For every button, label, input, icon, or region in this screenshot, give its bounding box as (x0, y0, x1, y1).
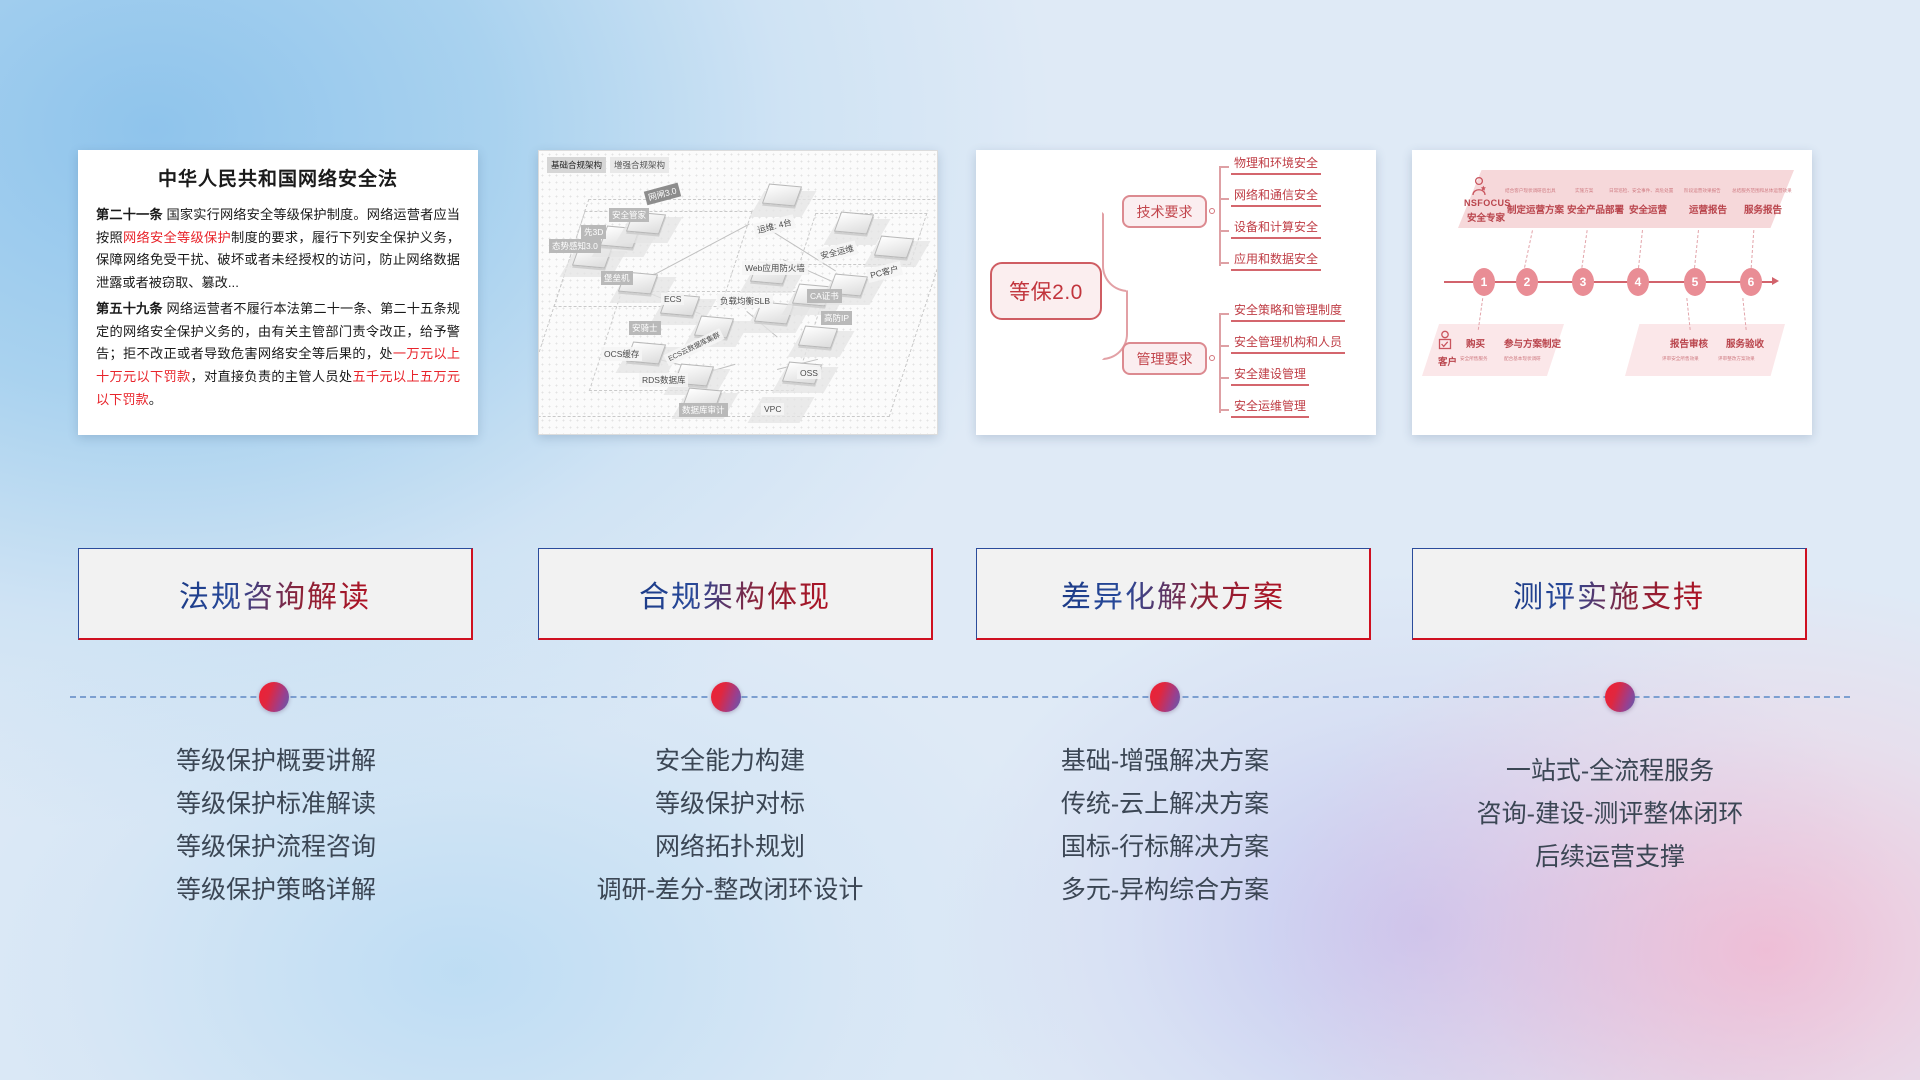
mindmap-tick-t1 (1219, 166, 1229, 168)
arch-label-taishi: 态势感知3.0 (549, 239, 601, 253)
arch-tab-basic[interactable]: 基础合规架构 (547, 157, 606, 173)
nsfocus-bstep-1-label: 购买 (1466, 336, 1485, 350)
mindmap-leaf-device: 设备和计算安全 (1231, 218, 1321, 239)
section-title-box-2[interactable]: 合规架构体现 (538, 548, 933, 640)
timeline-dot-2[interactable] (711, 682, 741, 712)
article-59-end: 。 (149, 392, 162, 407)
architecture-tabs[interactable]: 基础合规架构 增强合规架构 (547, 157, 669, 173)
mindmap-tick-t4 (1219, 262, 1229, 264)
mindmap-leaf-ops: 安全运维管理 (1231, 397, 1309, 418)
nsfocus-step-1-label: 制定运营方案 (1507, 202, 1564, 216)
section-title-box-4[interactable]: 测评实施支持 (1412, 548, 1807, 640)
arch-label-gaofangip: 高防IP (821, 311, 852, 325)
nsfocus-bstep-3-sub: 评审安全所售效果 (1662, 356, 1699, 362)
customer-person-icon (1436, 330, 1454, 352)
law-body: 中华人民共和国网络安全法 第二十一条 国家实行网络安全等级保护制度。网络运营者应… (78, 150, 478, 421)
arch-label-ecs: ECS (661, 293, 684, 305)
card-cloud-architecture[interactable]: 基础合规架构 增强合规架构 (538, 150, 938, 435)
nsfocus-canvas: NSFOCUS 安全专家 制定运营方案 结合客户现状调研后出具 安全产品部署 实… (1412, 150, 1812, 435)
mindmap-leaf-application: 应用和数据安全 (1231, 250, 1321, 271)
detail-column-4: 一站式-全流程服务 咨询-建设-测评整体闭环 后续运营支撑 (1400, 750, 1820, 879)
nsfocus-customer-role: 客户 (1438, 354, 1457, 368)
detail-column-1: 等级保护概要讲解 等级保护标准解读 等级保护流程咨询 等级保护策略详解 (66, 740, 486, 912)
article-21-highlight: 网络安全等级保护 (123, 230, 231, 245)
list-item: 国标-行标解决方案 (955, 826, 1375, 869)
card-cybersecurity-law[interactable]: 中华人民共和国网络安全法 第二十一条 国家实行网络安全等级保护制度。网络运营者应… (78, 150, 478, 435)
mindmap-collapse-dot-technical[interactable] (1209, 208, 1215, 214)
nsfocus-node-1[interactable]: 1 (1473, 268, 1495, 296)
list-item: 一站式-全流程服务 (1400, 750, 1820, 793)
section-title-label-1: 法规咨询解读 (179, 572, 371, 616)
arch-node-box-d (762, 184, 802, 207)
arch-label-ca: CA证书 (807, 289, 842, 303)
list-item: 等级保护流程咨询 (66, 826, 486, 869)
nsfocus-dash-6 (1751, 230, 1755, 268)
arch-node-box-f (874, 236, 914, 259)
article-21-label: 第二十一条 (96, 207, 163, 222)
section-title-label-4: 测评实施支持 (1513, 572, 1705, 616)
expert-person-icon (1470, 176, 1488, 196)
nsfocus-step-5-label: 服务报告 (1744, 202, 1782, 216)
nsfocus-dash-2 (1524, 230, 1533, 267)
mindmap-tick-m3 (1219, 377, 1229, 379)
law-article-21: 第二十一条 国家实行网络安全等级保护制度。网络运营者应当按照网络安全等级保护制度… (96, 204, 460, 295)
mindmap-branch-management: 管理要求 (1122, 342, 1207, 375)
article-59-mid: ，对直接负责的主管人员处 (190, 369, 352, 384)
nsfocus-node-4[interactable]: 4 (1627, 268, 1649, 296)
list-item: 后续运营支撑 (1400, 836, 1820, 879)
nsfocus-step-3-label: 安全运营 (1629, 202, 1667, 216)
nsfocus-dash-5 (1694, 230, 1699, 268)
list-item: 等级保护标准解读 (66, 783, 486, 826)
arch-label-baolei: 堡垒机 (601, 271, 633, 285)
nsfocus-node-2[interactable]: 2 (1516, 268, 1538, 296)
law-article-59: 第五十九条 网络运营者不履行本法第二十一条、第二十五条规定的网络安全保护义务的，… (96, 298, 460, 412)
mindmap-leaf-build: 安全建设管理 (1231, 365, 1309, 386)
screenshot-card-row: 中华人民共和国网络安全法 第二十一条 国家实行网络安全等级保护制度。网络运营者应… (0, 150, 1920, 440)
section-detail-columns: 等级保护概要讲解 等级保护标准解读 等级保护流程咨询 等级保护策略详解 安全能力… (0, 740, 1920, 980)
nsfocus-step-5-sub: 总结服务范围和总体运营效果 (1732, 188, 1792, 194)
nsfocus-bstep-2-sub: 配合基本现状调研 (1504, 356, 1541, 362)
arch-label-waf: Web应用防火墙 (742, 261, 808, 275)
list-item: 多元-异构综合方案 (955, 869, 1375, 912)
section-title-label-3: 差异化解决方案 (1061, 572, 1285, 616)
mindmap-leaf-network: 网络和通信安全 (1231, 186, 1321, 207)
article-59-label: 第五十九条 (96, 301, 163, 316)
arch-label-rds: RDS数据库 (639, 373, 688, 387)
nsfocus-bstep-2-label: 参与方案制定 (1504, 336, 1561, 350)
mindmap-tick-t2 (1219, 198, 1229, 200)
arch-node-box-e (834, 212, 874, 235)
list-item: 安全能力构建 (520, 740, 940, 783)
mindmap-spine-management (1219, 313, 1221, 413)
arch-label-oss: OSS (797, 367, 821, 379)
timeline-dot-1[interactable] (259, 682, 289, 712)
arch-label-xian3d: 先3D (581, 225, 606, 239)
nsfocus-node-3[interactable]: 3 (1572, 268, 1594, 296)
arch-label-anqishi: 安骑士 (629, 321, 661, 335)
arch-tab-enhanced[interactable]: 增强合规架构 (610, 157, 669, 173)
arch-label-dbaudit: 数据库审计 (679, 403, 728, 417)
list-item: 咨询-建设-测评整体闭环 (1400, 793, 1820, 836)
mindmap-root: 等保2.0 (990, 262, 1102, 320)
nsfocus-bstep-3-label: 报告审核 (1670, 336, 1708, 350)
list-item: 网络拓扑规划 (520, 826, 940, 869)
mindmap-spine-technical (1219, 166, 1221, 266)
nsfocus-bstep-1-sub: 安全所售服务 (1460, 356, 1488, 362)
arch-label-ocs: OCS缓存 (601, 347, 642, 361)
nsfocus-step-4-sub: 阶段运营效果报告 (1684, 188, 1721, 194)
list-item: 调研-差分-整改闭环设计 (520, 869, 940, 912)
timeline-dashed-line (70, 696, 1850, 698)
section-title-row: 法规咨询解读 合规架构体现 差异化解决方案 测评实施支持 (0, 548, 1920, 640)
section-title-box-1[interactable]: 法规咨询解读 (78, 548, 473, 640)
nsfocus-brand: NSFOCUS (1464, 198, 1511, 208)
list-item: 等级保护概要讲解 (66, 740, 486, 783)
nsfocus-node-6[interactable]: 6 (1740, 268, 1762, 296)
nsfocus-customer-band-right (1625, 324, 1785, 376)
section-title-box-3[interactable]: 差异化解决方案 (976, 548, 1371, 640)
mindmap-tick-m2 (1219, 345, 1229, 347)
nsfocus-step-4-label: 运营报告 (1689, 202, 1727, 216)
mindmap-tick-m4 (1219, 409, 1229, 411)
list-item: 传统-云上解决方案 (955, 783, 1375, 826)
nsfocus-expert-role: 安全专家 (1467, 210, 1505, 224)
arch-label-slb: 负载均衡SLB (717, 294, 773, 308)
nsfocus-step-2-label: 安全产品部署 (1567, 202, 1624, 216)
nsfocus-dash-3 (1581, 230, 1587, 268)
detail-column-2: 安全能力构建 等级保护对标 网络拓扑规划 调研-差分-整改闭环设计 (520, 740, 940, 912)
card-mindmap-dengbao[interactable]: 等保2.0 技术要求 物理和环境安全 网络和通信安全 设备和计算安全 应用和数据… (976, 150, 1376, 435)
nsfocus-axis-arrow-icon (1772, 277, 1779, 285)
arch-label-vpc: VPC (761, 403, 784, 415)
mindmap-branch-technical: 技术要求 (1122, 195, 1207, 228)
mindmap-tick-m1 (1219, 313, 1229, 315)
timeline-dot-4[interactable] (1605, 682, 1635, 712)
mindmap-leaf-policy: 安全策略和管理制度 (1231, 301, 1345, 322)
mindmap-collapse-dot-management[interactable] (1209, 355, 1215, 361)
nsfocus-step-1-sub: 结合客户现状调研后出具 (1505, 188, 1556, 194)
nsfocus-bstep-4-label: 服务验收 (1726, 336, 1764, 350)
section-title-label-2: 合规架构体现 (639, 572, 831, 616)
nsfocus-node-5[interactable]: 5 (1684, 268, 1706, 296)
arch-label-anquanguanjia: 安全管家 (609, 208, 649, 222)
list-item: 等级保护策略详解 (66, 869, 486, 912)
mindmap-tick-t3 (1219, 230, 1229, 232)
timeline-dot-3[interactable] (1150, 682, 1180, 712)
architecture-canvas: 基础合规架构 增强合规架构 (539, 151, 937, 434)
card-nsfocus-process[interactable]: NSFOCUS 安全专家 制定运营方案 结合客户现状调研后出具 安全产品部署 实… (1412, 150, 1812, 435)
nsfocus-step-2-sub: 实施方案 (1575, 188, 1593, 194)
list-item: 等级保护对标 (520, 783, 940, 826)
nsfocus-step-3-sub: 日常巡检、安全事件、高危处置 (1609, 188, 1673, 194)
nsfocus-dash-4 (1638, 230, 1643, 268)
mindmap-canvas: 等保2.0 技术要求 物理和环境安全 网络和通信安全 设备和计算安全 应用和数据… (976, 150, 1376, 435)
list-item: 基础-增强解决方案 (955, 740, 1375, 783)
detail-column-3: 基础-增强解决方案 传统-云上解决方案 国标-行标解决方案 多元-异构综合方案 (955, 740, 1375, 912)
mindmap-leaf-org: 安全管理机构和人员 (1231, 333, 1345, 354)
mindmap-leaf-physical: 物理和环境安全 (1231, 154, 1321, 175)
law-title: 中华人民共和国网络安全法 (96, 164, 460, 191)
arch-node-box-m (798, 326, 838, 349)
nsfocus-bstep-4-sub: 评审整改方案效果 (1718, 356, 1755, 362)
